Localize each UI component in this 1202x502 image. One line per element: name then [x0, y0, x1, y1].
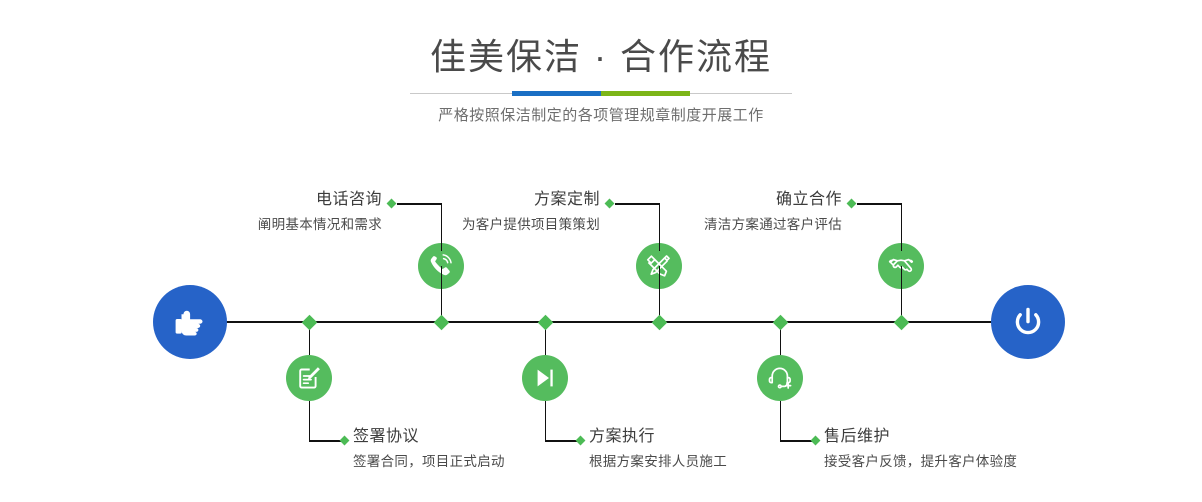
- play-execute-icon: [532, 365, 558, 391]
- sign-document-icon: [296, 365, 322, 391]
- power-icon: [1008, 302, 1048, 342]
- label-tick-4: [576, 436, 586, 446]
- label-tick-3: [605, 199, 615, 209]
- label-tick-1: [387, 199, 397, 209]
- connector-hline-1: [397, 203, 441, 205]
- step-node-2[interactable]: [286, 355, 332, 401]
- timeline: 电话咨询 阐明基本情况和需求 签署协议 签署合同，项目正式启动: [0, 0, 1202, 502]
- label-tick-5: [847, 199, 857, 209]
- customer-service-icon: [767, 365, 793, 391]
- axis-diamond-6: [772, 314, 788, 330]
- axis-diamond-2: [301, 314, 317, 330]
- axis-diamond-1: [433, 314, 449, 330]
- axis-diamond-3: [651, 314, 667, 330]
- connector-vdrop-1: [441, 203, 443, 251]
- connector-vdrop-3: [659, 203, 661, 251]
- timeline-start-node[interactable]: [153, 285, 227, 359]
- process-flow-infographic: 佳美保洁 · 合作流程 严格按照保洁制定的各项管理规章制度开展工作: [0, 0, 1202, 502]
- connector-vdrop-6: [780, 401, 782, 441]
- axis-diamond-4: [537, 314, 553, 330]
- step-label-1: 电话咨询 阐明基本情况和需求: [258, 189, 382, 235]
- axis-diamond-5: [893, 314, 909, 330]
- step-label-2: 签署协议 签署合同，项目正式启动: [353, 426, 505, 472]
- label-tick-2: [340, 436, 350, 446]
- connector-hline-3: [615, 203, 659, 205]
- connector-vdrop-5: [901, 203, 903, 251]
- pointing-hand-icon: [170, 302, 210, 342]
- step-label-3: 方案定制 为客户提供项目策策划: [462, 189, 600, 235]
- step-label-6: 售后维护 接受客户反馈，提升客户体验度: [824, 426, 1017, 472]
- label-tick-6: [811, 436, 821, 446]
- step-label-4: 方案执行 根据方案安排人员施工: [589, 426, 727, 472]
- step-node-6[interactable]: [757, 355, 803, 401]
- connector-vdrop-4: [545, 401, 547, 441]
- timeline-end-node[interactable]: [991, 285, 1065, 359]
- step-label-5: 确立合作 清洁方案通过客户评估: [704, 189, 842, 235]
- connector-vdrop-2: [309, 401, 311, 441]
- connector-hline-5: [857, 203, 901, 205]
- step-node-4[interactable]: [522, 355, 568, 401]
